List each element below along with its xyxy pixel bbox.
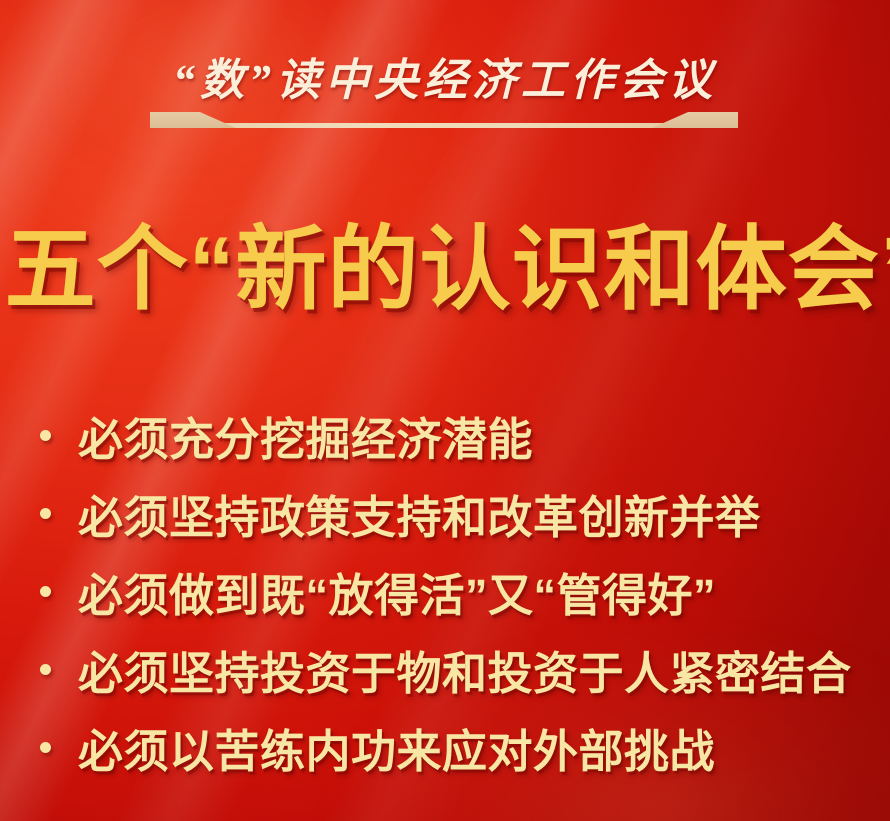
dot-bullet-icon <box>40 742 51 753</box>
list-item-label: 必须充分挖掘经济潜能 <box>78 403 533 468</box>
list-item: 必须做到既“放得活”又“管得好” <box>40 552 890 630</box>
ribbon-line <box>150 123 738 128</box>
dot-bullet-icon <box>40 586 51 597</box>
header-title: “数”读中央经济工作会议 <box>173 44 717 108</box>
key-points-list: 必须充分挖掘经济潜能 必须坚持政策支持和改革创新并举 必须做到既“放得活”又“管… <box>40 396 890 786</box>
list-item-label: 必须坚持政策支持和改革创新并举 <box>78 481 761 546</box>
dot-bullet-icon <box>40 664 51 675</box>
list-item: 必须坚持投资于物和投资于人紧密结合 <box>40 630 890 708</box>
header-section: “数”读中央经济工作会议 <box>0 44 890 108</box>
poster-canvas: “数”读中央经济工作会议 五个“新的认识和体会” 必须充分挖掘经济潜能 必须坚持… <box>0 0 890 821</box>
headline-section: 五个“新的认识和体会” <box>0 222 890 320</box>
list-item: 必须充分挖掘经济潜能 <box>40 396 890 474</box>
headline-title: 五个“新的认识和体会” <box>5 222 890 320</box>
list-item-label: 必须坚持投资于物和投资于人紧密结合 <box>78 637 852 702</box>
list-item: 必须坚持政策支持和改革创新并举 <box>40 474 890 552</box>
ribbon-cap-right <box>652 112 738 128</box>
dot-bullet-icon <box>40 508 51 519</box>
dot-bullet-icon <box>40 430 51 441</box>
ribbon-cap-left <box>150 112 236 128</box>
list-item: 必须以苦练内功来应对外部挑战 <box>40 708 890 786</box>
gold-ribbon-divider <box>150 112 738 130</box>
list-item-label: 必须以苦练内功来应对外部挑战 <box>78 715 715 780</box>
list-item-label: 必须做到既“放得活”又“管得好” <box>78 559 716 624</box>
